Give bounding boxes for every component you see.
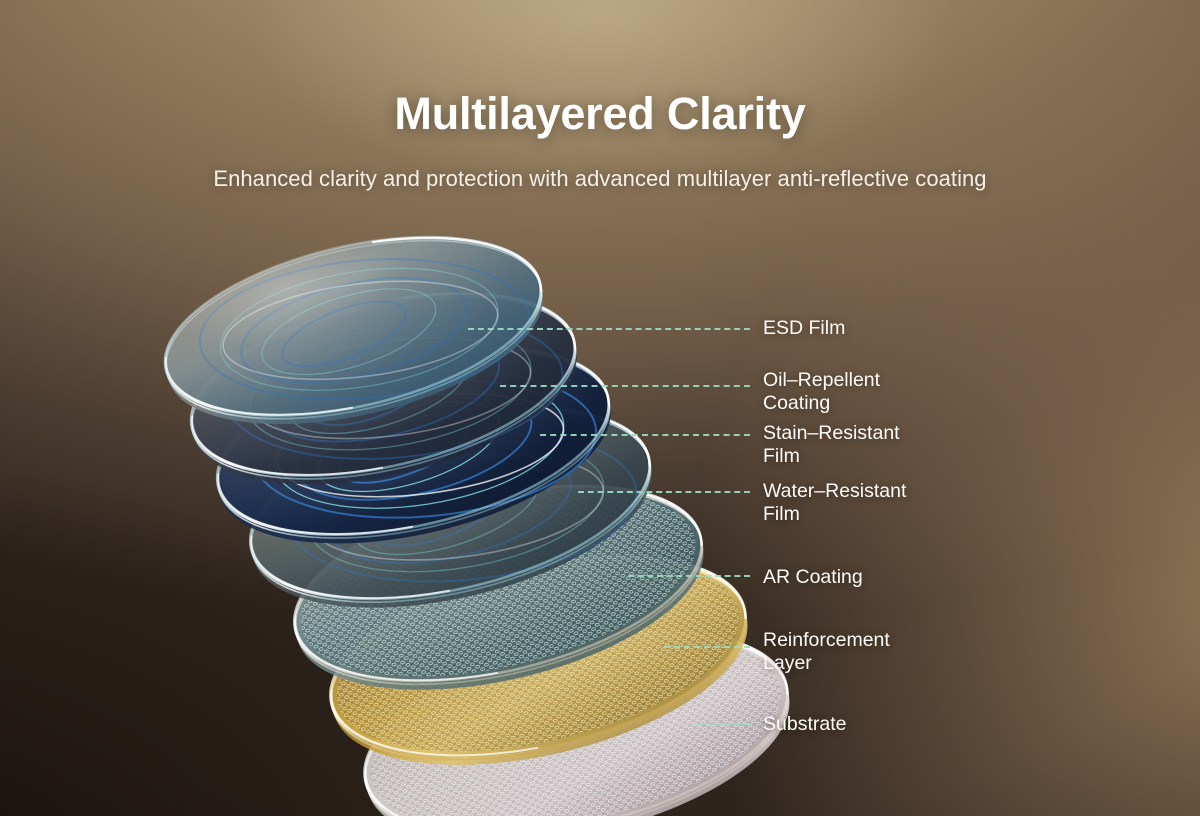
- page-subtitle: Enhanced clarity and protection with adv…: [0, 166, 1200, 192]
- layer-label-water-resistant[interactable]: Water–Resistant Film: [763, 480, 906, 526]
- scene: Multilayered Clarity Enhanced clarity an…: [0, 0, 1200, 816]
- page-title: Multilayered Clarity: [0, 88, 1200, 140]
- leader-line-esd-film: [468, 328, 750, 330]
- leader-line-substrate: [698, 723, 750, 725]
- layer-label-substrate[interactable]: Substrate: [763, 713, 846, 736]
- layer-label-reinforcement-layer[interactable]: Reinforcement Layer: [763, 629, 890, 675]
- layer-label-esd-film[interactable]: ESD Film: [763, 317, 845, 340]
- leader-line-oil-repellent: [500, 385, 750, 387]
- leader-line-water-resistant: [578, 491, 750, 493]
- layer-label-oil-repellent[interactable]: Oil–Repellent Coating: [763, 369, 880, 415]
- layer-label-stain-resistant[interactable]: Stain–Resistant Film: [763, 422, 900, 468]
- leader-line-ar-coating: [628, 575, 750, 577]
- leader-line-stain-resistant: [540, 434, 750, 436]
- layer-label-ar-coating[interactable]: AR Coating: [763, 566, 863, 589]
- leader-line-reinforcement-layer: [664, 646, 750, 648]
